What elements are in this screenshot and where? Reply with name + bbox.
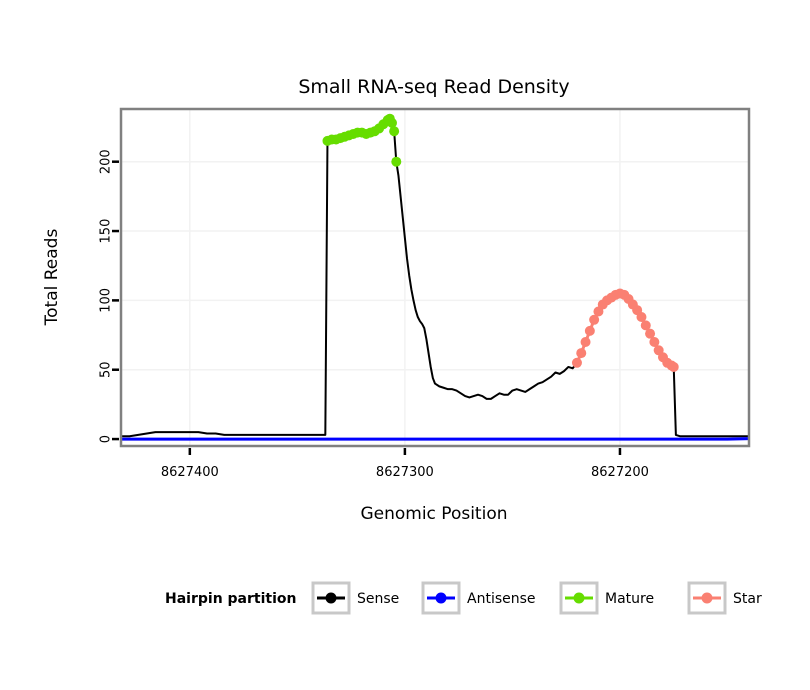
legend-entry-label: Antisense <box>467 591 536 607</box>
chart-title: Small RNA-seq Read Density <box>298 76 569 98</box>
legend-key-point <box>436 593 447 604</box>
y-tick-label: 150 <box>99 219 114 244</box>
legend-entry-label: Mature <box>605 591 654 607</box>
data-point-mature <box>389 126 399 136</box>
data-point-star <box>581 337 591 347</box>
legend-key-point <box>702 593 713 604</box>
x-tick-label: 8627400 <box>161 465 219 480</box>
data-point-star <box>576 348 586 358</box>
y-tick-label: 200 <box>99 149 114 174</box>
data-point-star <box>585 326 595 336</box>
chart-page: Small RNA-seq Read Density 8627400862730… <box>0 0 810 690</box>
legend-entry-label: Sense <box>357 591 399 607</box>
legend-key-point <box>326 593 337 604</box>
legend-key-point <box>574 593 585 604</box>
x-tick-label: 8627300 <box>376 465 434 480</box>
y-axis-title: Total Reads <box>42 229 62 327</box>
x-axis-title: Genomic Position <box>360 504 507 524</box>
legend-title: Hairpin partition <box>165 591 296 607</box>
data-point-mature <box>391 157 401 167</box>
data-point-star <box>572 358 582 368</box>
legend-entry-label: Star <box>733 591 762 607</box>
x-tick-label: 8627200 <box>591 465 649 480</box>
y-tick-label: 50 <box>99 361 114 378</box>
read-density-chart: Small RNA-seq Read Density 8627400862730… <box>0 0 810 690</box>
data-point-mature <box>387 118 397 128</box>
y-tick-label: 0 <box>99 435 114 443</box>
y-tick-label: 100 <box>99 288 114 313</box>
data-point-star <box>669 362 679 372</box>
plot-panel-background <box>121 109 749 446</box>
